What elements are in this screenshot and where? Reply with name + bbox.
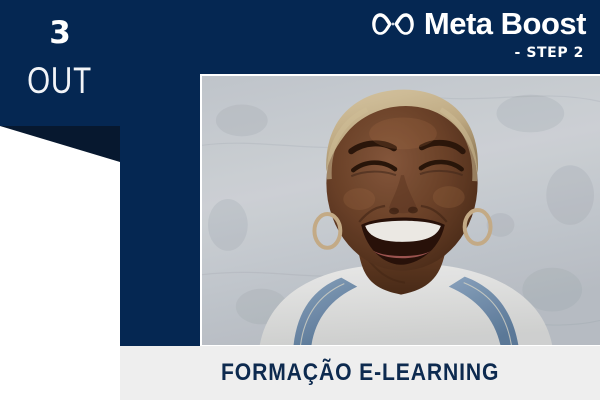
date-badge: 3 OUT <box>0 0 120 126</box>
caption-text: FORMAÇÃO E-LEARNING <box>221 359 499 387</box>
date-month: OUT <box>28 62 93 99</box>
promo-poster: 3 OUT Meta Boost - STEP 2 <box>0 0 600 400</box>
brand-lockup: Meta Boost - STEP 2 <box>296 8 586 60</box>
brand-row: Meta Boost <box>296 8 586 39</box>
brand-step-label: - STEP 2 <box>296 46 586 60</box>
date-day: 3 <box>49 18 71 49</box>
meta-infinity-icon <box>370 9 416 39</box>
photo-frame <box>200 74 600 345</box>
brand-name: Meta Boost <box>424 8 586 39</box>
navy-left-column <box>120 0 200 346</box>
caption-bar: FORMAÇÃO E-LEARNING <box>120 346 600 400</box>
portrait-photo <box>202 76 600 345</box>
caption-gap <box>0 346 120 400</box>
